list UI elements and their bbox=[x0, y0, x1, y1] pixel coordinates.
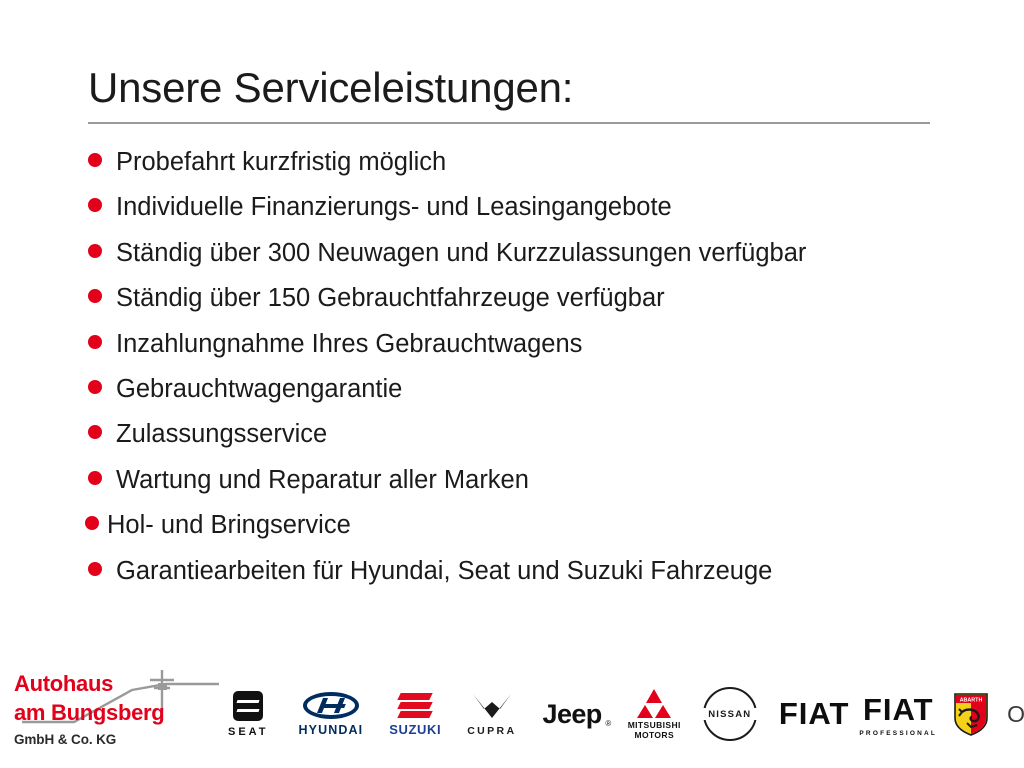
bullet-dot-icon bbox=[88, 289, 102, 303]
list-item-label: Zulassungsservice bbox=[116, 422, 327, 448]
brand-label: MITSUBISHI MOTORS bbox=[628, 721, 681, 740]
seat-icon bbox=[233, 691, 263, 721]
dealer-logo-legal: GmbH & Co. KG bbox=[14, 732, 116, 747]
list-item: Ständig über 300 Neuwagen und Kurzzulass… bbox=[88, 241, 958, 286]
brand-label: SEAT bbox=[228, 726, 269, 738]
list-item: Wartung und Reparatur aller Marken bbox=[88, 468, 958, 513]
list-item-label: Probefahrt kurzfristig möglich bbox=[116, 150, 446, 176]
list-item: Individuelle Finanzierungs- und Leasinga… bbox=[88, 195, 958, 240]
ora-row: ORA GWM bbox=[1007, 701, 1024, 728]
title-divider bbox=[88, 122, 930, 124]
mitsubishi-three-diamonds-icon bbox=[637, 688, 671, 718]
list-item-label: Ständig über 300 Neuwagen und Kurzzulass… bbox=[116, 241, 806, 267]
list-item: Zulassungsservice bbox=[88, 422, 958, 467]
brand-logo-jeep: Jeep® bbox=[543, 684, 602, 744]
dealer-logo-line2: am Bungsberg bbox=[14, 701, 164, 724]
brand-logo-fiat: FIAT bbox=[779, 684, 850, 744]
brand-label: ORA bbox=[1007, 701, 1024, 728]
brand-label-text: MITSUBISHI bbox=[628, 720, 681, 730]
list-item: Gebrauchtwagengarantie bbox=[88, 377, 958, 422]
brand-label: CUPRA bbox=[467, 725, 516, 737]
brand-logo-cupra: CUPRA bbox=[467, 684, 516, 744]
brand-logo-seat: SEAT bbox=[228, 684, 269, 744]
brand-label: NISSAN bbox=[708, 709, 751, 720]
list-item-label: Hol- und Bringservice bbox=[107, 513, 351, 539]
trademark-mark: ® bbox=[605, 719, 610, 728]
list-item: Inzahlungnahme Ihres Gebrauchtwagens bbox=[88, 332, 958, 377]
list-item-label: Inzahlungnahme Ihres Gebrauchtwagens bbox=[116, 332, 582, 358]
bullet-dot-icon bbox=[85, 516, 99, 530]
title-block: Unsere Serviceleistungen: bbox=[88, 64, 930, 124]
brand-label: Jeep® bbox=[543, 699, 602, 730]
bullet-dot-icon bbox=[88, 380, 102, 394]
abarth-scorpion-shield-icon: ABARTH bbox=[953, 692, 989, 736]
hyundai-icon-bar bbox=[323, 704, 346, 708]
brand-logo-abarth: ABARTH bbox=[953, 684, 989, 744]
brand-label: HYUNDAI bbox=[299, 723, 364, 737]
list-item-label: Individuelle Finanzierungs- und Leasinga… bbox=[116, 195, 672, 221]
bullet-dot-icon bbox=[88, 335, 102, 349]
brand-logo-mitsubishi: MITSUBISHI MOTORS bbox=[628, 684, 681, 744]
brand-label-text: Jeep bbox=[543, 699, 602, 729]
brand-logo-strip: SEAT HYUNDAI SUZUKI CUPRA bbox=[228, 668, 1020, 760]
brand-label-text-2: MOTORS bbox=[634, 730, 674, 740]
page-title: Unsere Serviceleistungen: bbox=[88, 64, 930, 111]
brand-label: SUZUKI bbox=[389, 722, 441, 737]
brand-logo-ora: ORA GWM bbox=[1007, 684, 1024, 744]
dealer-logo-line1: Autohaus bbox=[14, 672, 113, 695]
services-list: Probefahrt kurzfristig möglich Individue… bbox=[88, 150, 958, 604]
list-item-label: Ständig über 150 Gebrauchtfahrzeuge verf… bbox=[116, 286, 665, 312]
bullet-dot-icon bbox=[88, 244, 102, 258]
bullet-dot-icon bbox=[88, 425, 102, 439]
bullet-dot-icon bbox=[88, 562, 102, 576]
brand-label: FIAT bbox=[863, 692, 934, 728]
brand-logo-fiat-professional: FIAT PROFESSIONAL bbox=[859, 684, 937, 744]
cupra-icon bbox=[471, 692, 513, 720]
brand-sublabel: PROFESSIONAL bbox=[859, 730, 937, 737]
suzuki-icon bbox=[398, 692, 432, 718]
list-item: Ständig über 150 Gebrauchtfahrzeuge verf… bbox=[88, 286, 958, 331]
dealer-logo: Autohaus am Bungsberg GmbH & Co. KG bbox=[14, 666, 224, 762]
brand-logo-hyundai: HYUNDAI bbox=[299, 684, 364, 744]
list-item-label: Wartung und Reparatur aller Marken bbox=[116, 468, 529, 494]
list-item: Hol- und Bringservice bbox=[88, 513, 958, 558]
list-item: Probefahrt kurzfristig möglich bbox=[88, 150, 958, 195]
hyundai-icon bbox=[303, 692, 359, 719]
slide-canvas: Unsere Serviceleistungen: Probefahrt kur… bbox=[0, 0, 1024, 768]
nissan-icon: NISSAN bbox=[703, 687, 757, 741]
list-item-label: Garantiearbeiten für Hyundai, Seat und S… bbox=[116, 559, 772, 585]
brand-label: FIAT bbox=[779, 696, 850, 732]
list-item: Garantiearbeiten für Hyundai, Seat und S… bbox=[88, 559, 958, 604]
footer: Autohaus am Bungsberg GmbH & Co. KG SEAT… bbox=[0, 658, 1024, 768]
list-item-label: Gebrauchtwagengarantie bbox=[116, 377, 402, 403]
brand-logo-suzuki: SUZUKI bbox=[389, 684, 441, 744]
brand-logo-nissan: NISSAN bbox=[703, 684, 757, 744]
svg-text:ABARTH: ABARTH bbox=[960, 698, 983, 704]
bullet-dot-icon bbox=[88, 198, 102, 212]
bullet-dot-icon bbox=[88, 153, 102, 167]
bullet-dot-icon bbox=[88, 471, 102, 485]
